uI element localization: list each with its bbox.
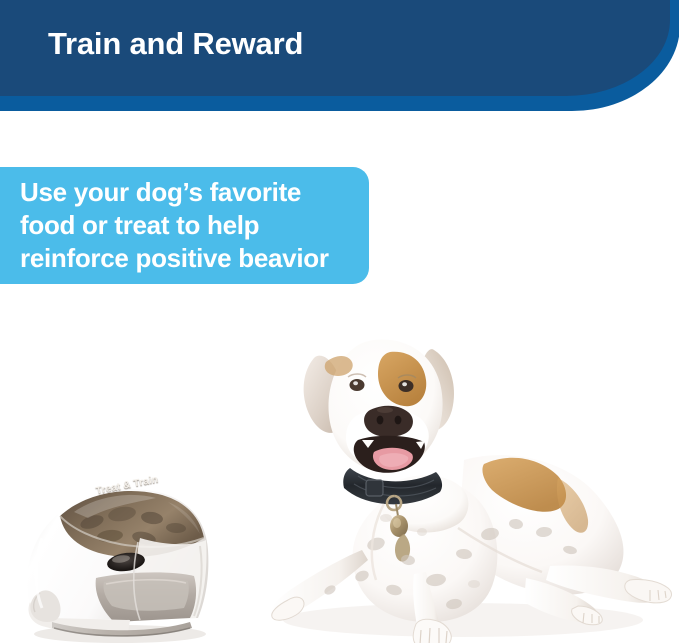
header-banner: Train and Reward <box>0 0 679 112</box>
callout-text: Use your dog’s favorite food or treat to… <box>20 176 360 275</box>
product-feature-panel: Train and Reward Use your dog’s favorite… <box>0 0 679 643</box>
callout-box: Use your dog’s favorite food or treat to… <box>0 167 369 284</box>
page-title: Train and Reward <box>48 26 303 62</box>
product-photo <box>0 300 679 643</box>
treat-dispenser-image <box>18 472 218 643</box>
dog-image <box>258 328 678 643</box>
